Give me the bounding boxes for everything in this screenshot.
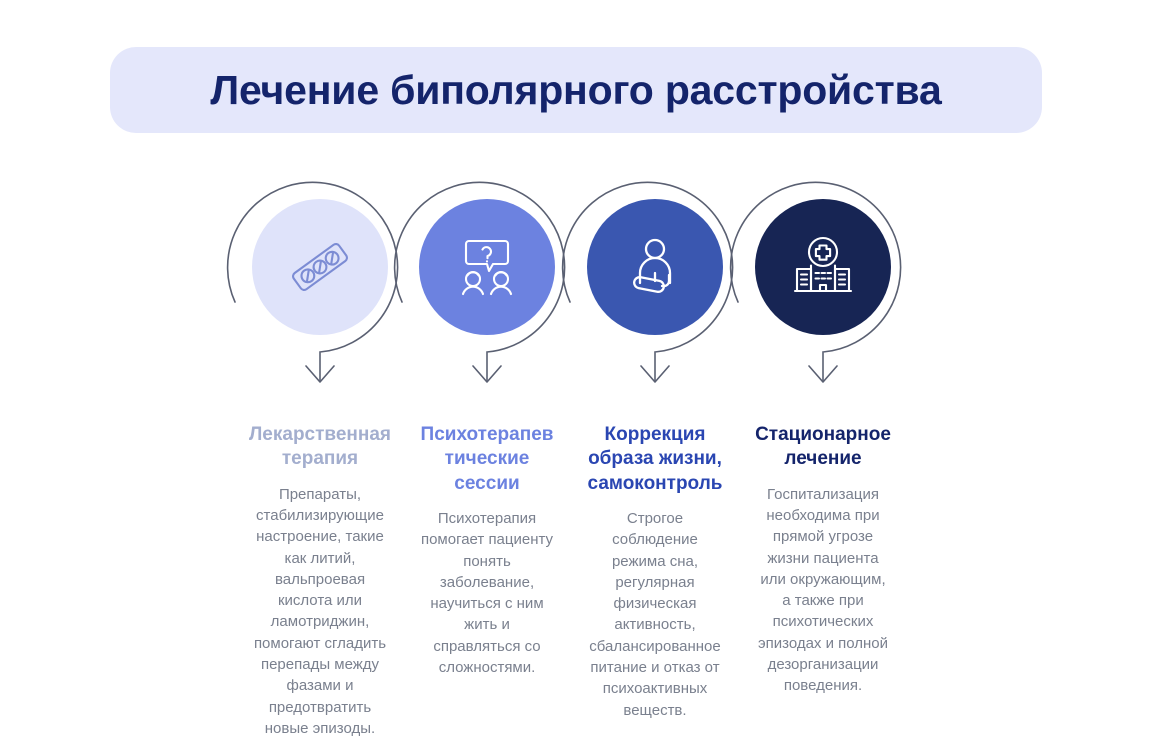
step-heading-hospitalization: Стационарное лечение [730,423,916,472]
step-body-lifestyle: Строгое соблюдение режима сна, регулярна… [565,508,745,721]
hospital-building-icon [787,231,859,303]
step-body-medication: Препараты, стабилизирующие настроение, т… [234,484,406,740]
step-circle-medication [230,180,410,395]
step-circle-lifestyle [565,180,745,395]
step-heading-medication: Лекарственная терапия [234,423,406,472]
step-text-hospitalization: Стационарное лечение Госпитализация необ… [730,423,916,697]
step-body-psychotherapy: Психотерапия помогает пациенту понять за… [398,508,576,678]
step-heading-psychotherapy: Психотерапев тические сессии [398,423,576,496]
meditating-person-icon [619,231,691,303]
pill-blister-pack-icon [284,231,356,303]
steps-container: Лекарственная терапия Препараты, стабили… [0,0,1152,753]
step-heading-lifestyle: Коррекция образа жизни, самоконтроль [565,423,745,496]
step-text-medication: Лекарственная терапия Препараты, стабили… [234,423,406,739]
therapy-conversation-icon [451,231,523,303]
step-disc-medication [252,199,388,335]
step-body-hospitalization: Госпитализация необходима при прямой угр… [730,484,916,697]
step-text-psychotherapy: Психотерапев тические сессии Психотерапи… [398,423,576,678]
step-circle-hospitalization [733,180,913,395]
step-disc-psychotherapy [419,199,555,335]
step-text-lifestyle: Коррекция образа жизни, самоконтроль Стр… [565,423,745,721]
step-disc-lifestyle [587,199,723,335]
step-circle-psychotherapy [397,180,577,395]
step-disc-hospitalization [755,199,891,335]
